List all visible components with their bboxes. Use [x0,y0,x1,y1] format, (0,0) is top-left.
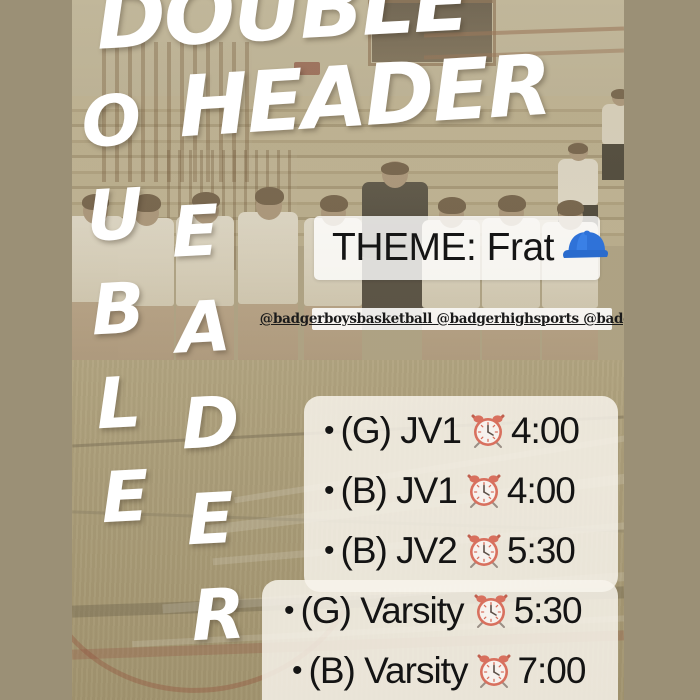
spectator [602,98,624,180]
vertical-letter: O [80,85,143,158]
schedule-row: • (G) Varsity [284,590,582,632]
schedule-team: (G) Varsity [301,590,464,632]
schedule-team: (B) Varsity [309,650,468,692]
bullet-icon: • [324,416,334,446]
blue-cap-icon [562,229,612,267]
story-post-canvas: DOUBLE HEADER O U B L E E A D E R THEME:… [0,0,700,700]
vertical-letter: R [190,578,252,651]
theme-sticker[interactable]: THEME: Frat [314,216,600,280]
vertical-letter: E [169,195,231,268]
handles-sticker[interactable]: @badgerboysbasketball @badgerhighsports … [312,308,612,330]
theme-label: THEME: Frat [332,226,554,270]
schedule-time: 5:30 [507,530,575,572]
bullet-icon: • [284,596,294,626]
alarm-clock-icon [470,413,506,449]
bullet-icon: • [324,536,334,566]
schedule-time: 5:30 [514,590,582,632]
vertical-letter: E [185,482,247,555]
alarm-clock-icon [476,653,512,689]
vertical-letter: E [99,460,162,533]
vertical-letter: U [85,179,148,252]
handles-text: @badgerboysbasketball @badgerhighsports … [260,311,664,327]
vertical-letter: A [175,291,237,364]
alarm-clock-icon [466,533,502,569]
schedule-team: (G) JV1 [341,410,461,452]
schedule-list: • (G) JV1 [262,396,622,700]
headline-header: HEADER [176,51,552,142]
vertical-letter: B [90,273,153,346]
schedule-time: 4:00 [511,410,579,452]
bullet-icon: • [292,656,302,686]
schedule-team: (B) JV2 [341,530,457,572]
alarm-clock-icon [466,473,502,509]
schedule-row: • (B) JV2 [324,530,575,572]
bullet-icon: • [324,476,334,506]
schedule-time: 4:00 [507,470,575,512]
schedule-team: (B) JV1 [341,470,457,512]
alarm-clock-icon [473,593,509,629]
schedule-row: • (G) JV1 [324,410,579,452]
vertical-letter: D [180,387,242,460]
schedule-row: • (B) Varsity [292,650,585,692]
letterbox-bar-left [0,0,72,700]
letterbox-bar-right [624,0,700,700]
schedule-row: • (B) JV1 [324,470,575,512]
vertical-letter: L [95,366,158,439]
schedule-time: 7:00 [517,650,585,692]
